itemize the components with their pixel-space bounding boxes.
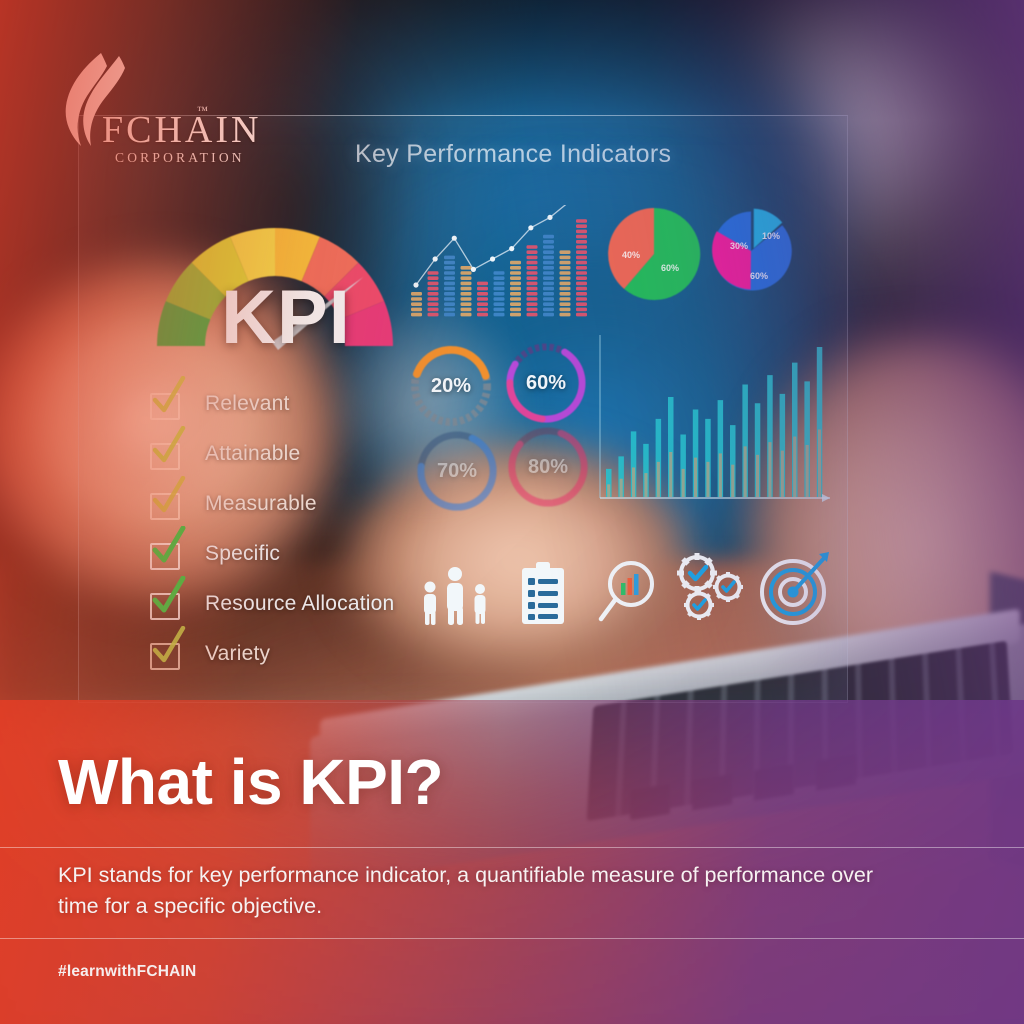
trademark-symbol: ™: [197, 105, 208, 117]
check-icon: [148, 526, 188, 570]
check-icon: [148, 626, 188, 670]
brand-logo[interactable]: FCHAIN ™ CORPORATION: [55, 50, 255, 170]
checklist-item-label: Resource Allocation: [205, 592, 394, 616]
donut-value: 80%: [505, 424, 591, 510]
donut-value: 60%: [503, 340, 589, 426]
check-icon: [148, 476, 188, 520]
checklist-item[interactable]: Resource Allocation: [150, 588, 410, 638]
pie-slice-label: 10%: [762, 231, 780, 241]
target-dart-icon[interactable]: [756, 550, 834, 628]
check-icon: [148, 576, 188, 620]
checklist-item-label: Specific: [205, 542, 280, 566]
check-icon: [148, 426, 188, 470]
pie-slice-label: 60%: [750, 271, 768, 281]
divider-top: [0, 847, 1024, 848]
segmented-bar-svg: [405, 205, 590, 325]
donut-chart-60: 60%: [503, 340, 589, 426]
brand-subtitle: CORPORATION: [115, 150, 245, 166]
divider-bottom: [0, 938, 1024, 939]
hashtag-label: #learnwithFCHAIN: [58, 963, 196, 981]
donut-chart-80: 80%: [505, 424, 591, 510]
checklist-item-label: Variety: [205, 642, 270, 666]
hud-title: Key Performance Indicators: [355, 140, 671, 169]
clipboard-checklist-icon[interactable]: [518, 560, 568, 626]
donut-chart-20: 20%: [408, 343, 494, 429]
pie-slice-label: 40%: [622, 250, 640, 260]
people-group-icon[interactable]: [418, 565, 493, 627]
checklist-item[interactable]: Relevant: [150, 388, 410, 438]
gauge-label: KPI: [196, 274, 376, 361]
checklist-item[interactable]: Variety: [150, 638, 410, 688]
pie-slice-label: 60%: [661, 263, 679, 273]
donut-value: 70%: [414, 428, 500, 514]
pie-slice-label: 30%: [730, 241, 748, 251]
page-title: What is KPI?: [58, 745, 443, 819]
brand-name: FCHAIN: [102, 108, 261, 152]
ascending-bar-chart: [598, 332, 833, 512]
description-text: KPI stands for key performance indicator…: [58, 860, 918, 921]
donut-chart-70: 70%: [414, 428, 500, 514]
checklist-item-label: Measurable: [205, 492, 317, 516]
checklist-item-label: Relevant: [205, 392, 289, 416]
kpi-checklist: Relevant Attainable Measurable Specific …: [150, 388, 410, 688]
check-icon: [148, 376, 188, 420]
magnifier-analytics-icon[interactable]: [598, 559, 660, 625]
gears-icon[interactable]: [670, 551, 750, 627]
pie-chart-1: 60% 40%: [605, 205, 703, 303]
segmented-bar-chart: [405, 205, 590, 325]
checklist-item-label: Attainable: [205, 442, 300, 466]
checklist-item[interactable]: Attainable: [150, 438, 410, 488]
checklist-item[interactable]: Specific: [150, 538, 410, 588]
donut-value: 20%: [408, 343, 494, 429]
checklist-item[interactable]: Measurable: [150, 488, 410, 538]
hud-icon-row: [418, 545, 818, 645]
poster-canvas: Key Performance Indicators KPI: [0, 0, 1024, 1024]
pie-chart-2: 60% 10% 30%: [705, 205, 797, 297]
bar-chart-svg: [598, 332, 833, 512]
kpi-gauge: KPI: [140, 196, 410, 371]
